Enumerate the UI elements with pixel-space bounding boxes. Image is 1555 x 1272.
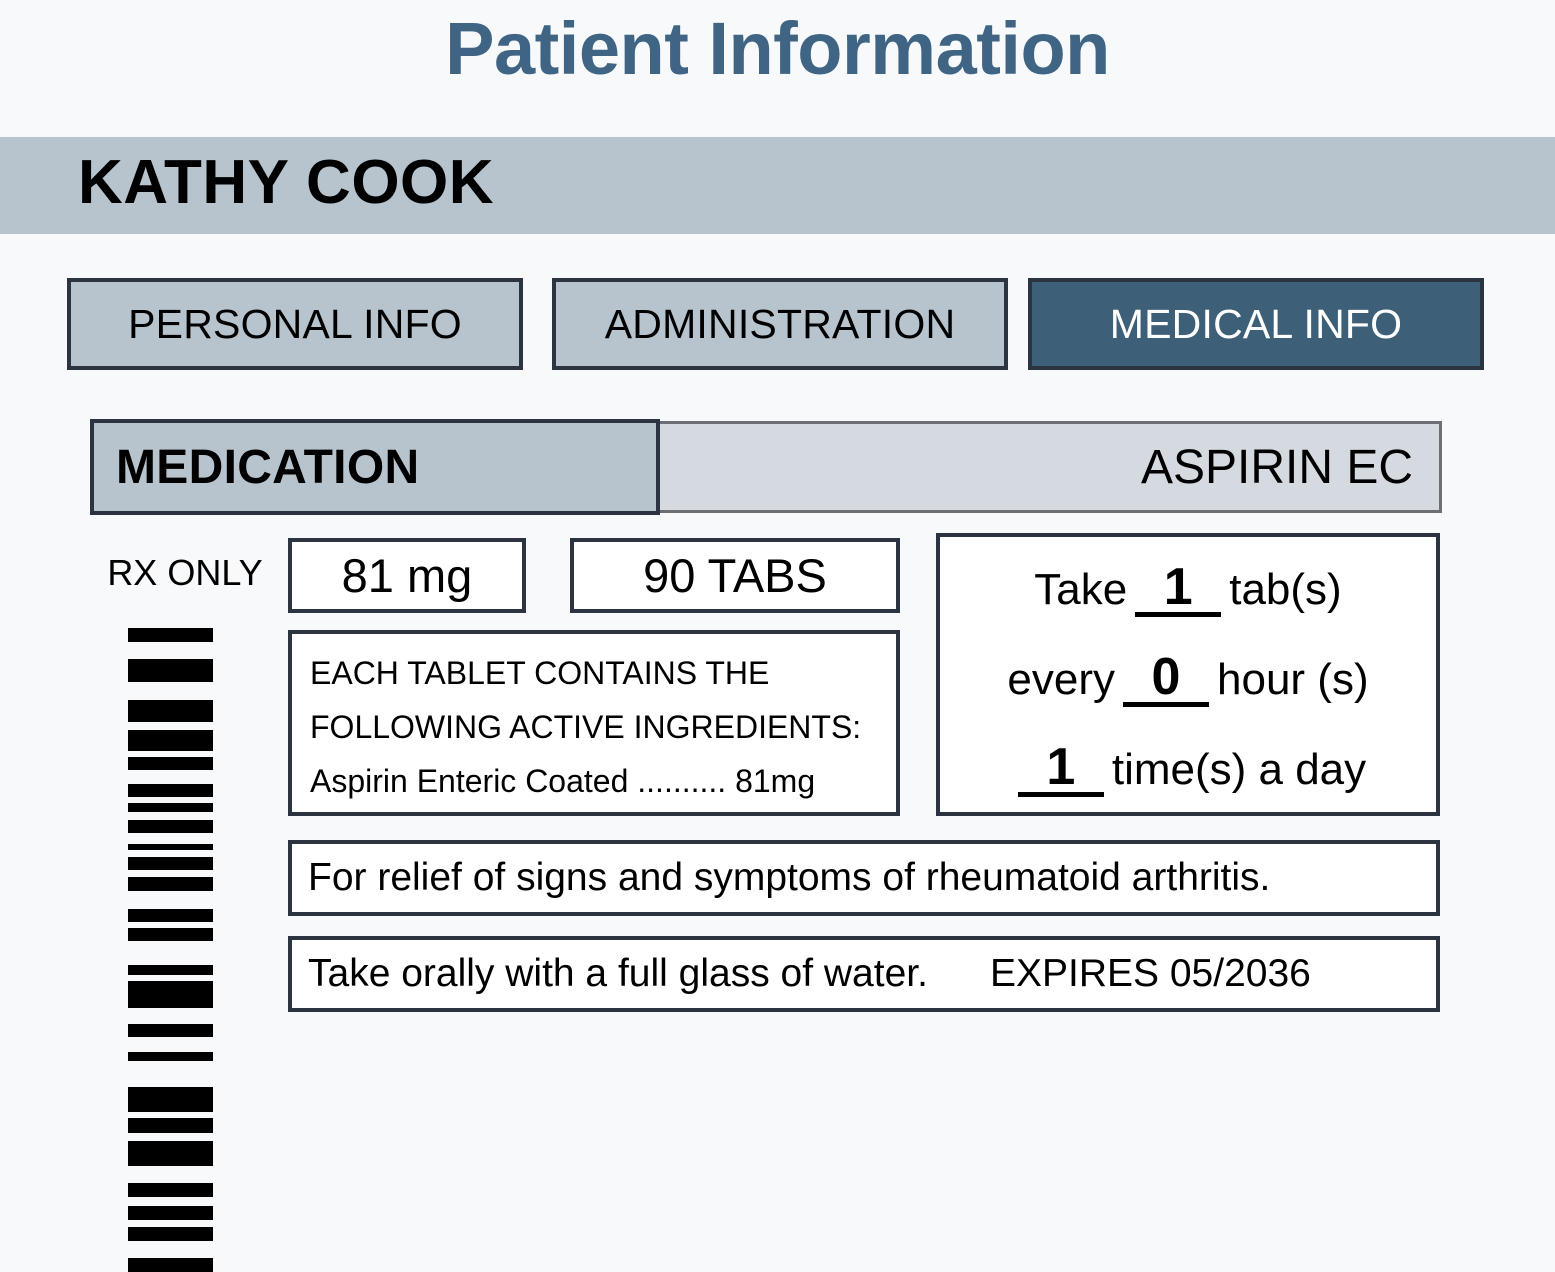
rx-only-label: RX ONLY <box>95 552 275 594</box>
directions-box[interactable]: Take 1 tab(s) every 0 hour (s) 1 time(s)… <box>936 533 1440 816</box>
barcode-bar <box>128 730 213 751</box>
directions-take-label: Take <box>1034 545 1127 635</box>
tab-medical-info-label: MEDICAL INFO <box>1110 301 1402 348</box>
barcode-bar <box>128 628 213 642</box>
tab-administration-label: ADMINISTRATION <box>605 301 956 348</box>
directions-line-1: Take 1 tab(s) <box>956 545 1420 635</box>
barcode-bar <box>128 1024 213 1037</box>
tab-administration[interactable]: ADMINISTRATION <box>552 278 1008 370</box>
barcode-bar <box>128 757 213 770</box>
patient-name: KATHY COOK <box>78 146 494 220</box>
directions-times-unit: time(s) a day <box>1112 725 1366 815</box>
barcode-bar <box>128 965 213 975</box>
directions-hours-value[interactable]: 0 <box>1123 653 1209 707</box>
barcode-bar <box>128 1141 213 1166</box>
ingredients-line-3: Aspirin Enteric Coated .......... 81mg <box>310 754 882 808</box>
directions-line-3: 1 time(s) a day <box>956 725 1420 815</box>
ingredients-line-1: EACH TABLET CONTAINS THE <box>310 646 882 700</box>
barcode-bar <box>128 877 213 891</box>
barcode-bar <box>128 1206 213 1220</box>
barcode-bar <box>128 844 213 850</box>
barcode-bar <box>128 784 213 797</box>
dose-quantity-box[interactable]: 90 TABS <box>570 538 900 613</box>
ingredients-box: EACH TABLET CONTAINS THE FOLLOWING ACTIV… <box>288 630 900 816</box>
indication-box[interactable]: For relief of signs and symptoms of rheu… <box>288 840 1440 916</box>
barcode-bar <box>128 1227 213 1241</box>
dose-strength-box[interactable]: 81 mg <box>288 538 526 613</box>
barcode-bar <box>128 1183 213 1197</box>
barcode-bar <box>128 700 213 722</box>
medication-field-value[interactable]: ASPIRIN EC <box>660 421 1442 513</box>
directions-tabs-value[interactable]: 1 <box>1135 563 1221 617</box>
tab-medical-info[interactable]: MEDICAL INFO <box>1028 278 1484 370</box>
directions-tabs-unit: tab(s) <box>1229 545 1341 635</box>
tab-bar: PERSONAL INFO ADMINISTRATION MEDICAL INF… <box>0 278 1555 374</box>
expiry-text: EXPIRES 05/2036 <box>990 952 1311 996</box>
instruction-text: Take orally with a full glass of water. <box>308 952 928 996</box>
barcode-bar <box>128 857 213 870</box>
medication-header-row: MEDICATION ASPIRIN EC <box>90 419 1442 515</box>
tab-personal-info[interactable]: PERSONAL INFO <box>67 278 523 370</box>
barcode-icon <box>128 628 213 1018</box>
ingredients-line-2: FOLLOWING ACTIVE INGREDIENTS: <box>310 700 882 754</box>
barcode-bar <box>128 659 213 682</box>
medication-field-label: MEDICATION <box>90 419 660 515</box>
instruction-box[interactable]: Take orally with a full glass of water. … <box>288 936 1440 1012</box>
barcode-bar <box>128 1087 213 1112</box>
patient-name-band: KATHY COOK <box>0 137 1555 234</box>
barcode-bar <box>128 1258 213 1272</box>
barcode-bar <box>128 1118 213 1133</box>
barcode-bar <box>128 909 213 922</box>
tab-personal-info-label: PERSONAL INFO <box>128 301 462 348</box>
barcode-bar <box>128 928 213 941</box>
directions-every-label: every <box>1007 635 1115 725</box>
barcode-bar <box>128 981 213 1008</box>
barcode-bar <box>128 820 213 833</box>
barcode-bar <box>128 1052 213 1061</box>
directions-line-2: every 0 hour (s) <box>956 635 1420 725</box>
directions-times-value[interactable]: 1 <box>1018 743 1104 797</box>
indication-text: For relief of signs and symptoms of rheu… <box>308 856 1270 900</box>
page-title: Patient Information <box>0 12 1555 86</box>
barcode-bar <box>128 803 213 812</box>
directions-hours-unit: hour (s) <box>1217 635 1369 725</box>
